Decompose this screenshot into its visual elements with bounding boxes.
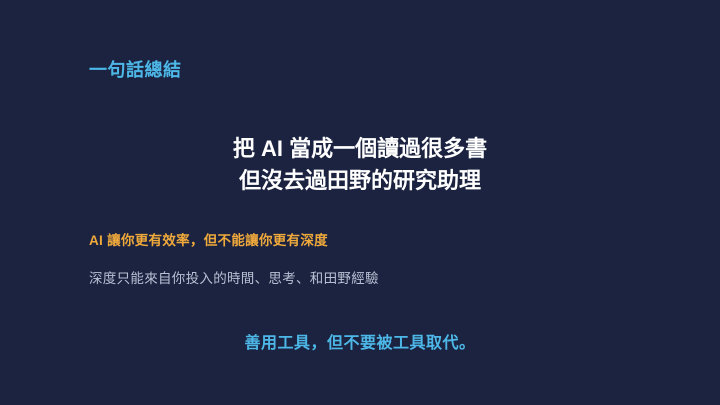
subtitle-note: 深度只能來自你投入的時間、思考、和田野經驗 — [89, 267, 379, 287]
main-statement: 把 AI 當成一個讀過很多書 但沒去過田野的研究助理 — [0, 133, 720, 197]
main-statement-line-2: 但沒去過田野的研究助理 — [0, 165, 720, 197]
slide-canvas: 一句話總結 把 AI 當成一個讀過很多書 但沒去過田野的研究助理 AI 讓你更有… — [0, 0, 720, 405]
slide-heading: 一句話總結 — [89, 56, 182, 82]
closing-statement: 善用工具，但不要被工具取代。 — [0, 329, 720, 353]
subtitle-accent: AI 讓你更有效率，但不能讓你更有深度 — [89, 229, 328, 249]
main-statement-line-1: 把 AI 當成一個讀過很多書 — [0, 133, 720, 165]
